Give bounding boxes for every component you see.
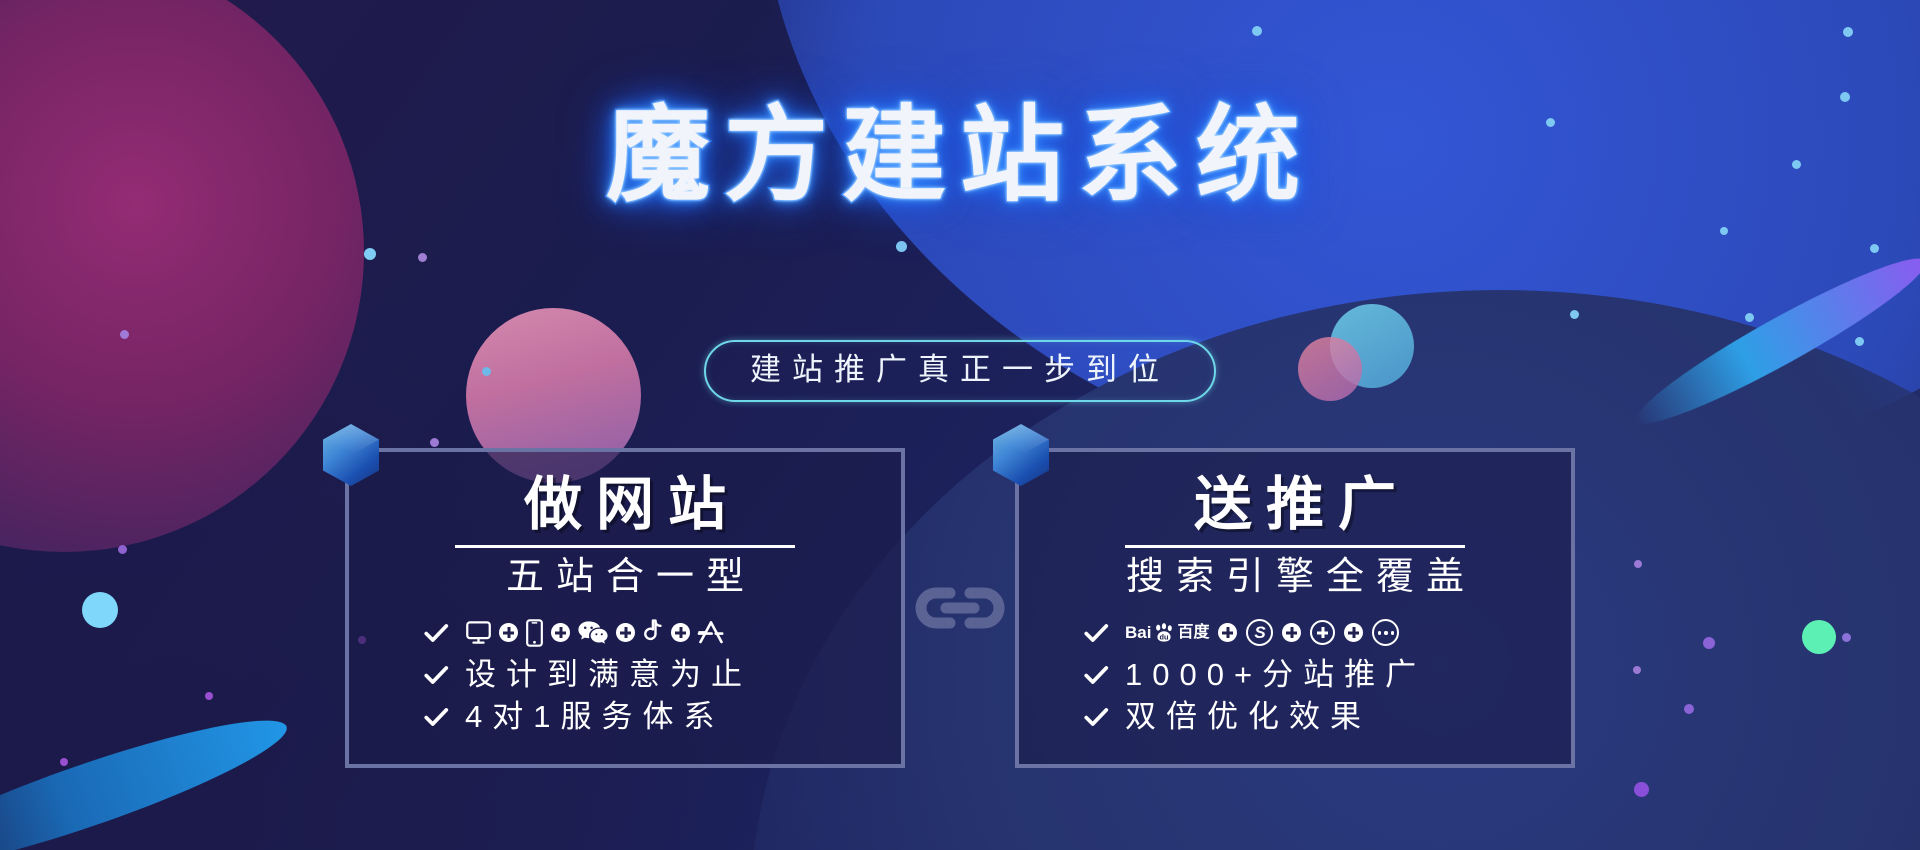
app-store-icon <box>697 620 725 646</box>
plus-icon <box>671 623 690 642</box>
list-item <box>423 612 901 654</box>
list-item-label: 1000+分站推广 <box>1125 659 1426 690</box>
star-dot <box>120 330 129 339</box>
star-dot <box>364 248 376 260</box>
panel-make-website[interactable]: 做网站 五站合一型 <box>345 448 905 768</box>
check-icon <box>423 620 449 646</box>
list-item: 1000+分站推广 <box>1083 654 1571 696</box>
check-icon <box>423 662 449 688</box>
list-item-label: 双倍优化效果 <box>1125 701 1371 732</box>
plus-icon <box>551 623 570 642</box>
panel-subtitle: 搜索引擎全覆盖 <box>1114 554 1476 602</box>
channel-icon-group <box>465 619 725 647</box>
page-title: 魔方建站系统 <box>0 104 1920 208</box>
list-item: 双倍优化效果 <box>1083 696 1571 738</box>
panel-rows: 设计到满意为止 4对1服务体系 <box>349 612 901 738</box>
more-dots-icon <box>1372 619 1399 646</box>
wechat-icon <box>577 620 609 646</box>
check-icon <box>423 704 449 730</box>
search-engine-icon-group: Bai du 百度 S <box>1125 619 1399 646</box>
panel-title-underline <box>455 545 795 548</box>
panel-title: 做网站 <box>510 474 740 535</box>
baidu-badge: du <box>1160 632 1169 641</box>
star-dot <box>1720 227 1728 235</box>
baidu-paw-icon: du <box>1153 622 1175 644</box>
link-chain-icon <box>912 583 1008 633</box>
promo-banner: 魔方建站系统 建站推广真正一步到位 做网站 五站合一型 <box>0 0 1920 850</box>
check-icon <box>1083 620 1109 646</box>
panel-title: 送推广 <box>1180 474 1410 535</box>
panel-subtitle: 五站合一型 <box>494 554 756 602</box>
baidu-logo-icon: Bai du 百度 <box>1125 622 1209 644</box>
list-item: 4对1服务体系 <box>423 696 901 738</box>
music-note-icon <box>642 619 664 646</box>
baidu-cn: 百度 <box>1177 625 1209 641</box>
list-item-label: 设计到满意为止 <box>465 659 752 690</box>
check-icon <box>1083 662 1109 688</box>
feature-panels: 做网站 五站合一型 <box>0 448 1920 768</box>
qihoo-360-icon <box>1310 620 1335 645</box>
star-dot <box>418 253 427 262</box>
sogou-icon: S <box>1246 619 1273 646</box>
panel-free-promotion[interactable]: 送推广 搜索引擎全覆盖 Bai <box>1015 448 1575 768</box>
plus-icon <box>1344 623 1363 642</box>
monitor-icon <box>465 619 492 646</box>
star-dot <box>1840 92 1850 102</box>
star-dot <box>1745 313 1754 322</box>
baidu-latin: Bai <box>1125 624 1151 641</box>
plus-icon <box>616 623 635 642</box>
panel-title-underline <box>1125 545 1465 548</box>
star-dot <box>1570 310 1579 319</box>
star-dot <box>430 438 439 447</box>
subtitle-pill: 建站推广真正一步到位 <box>704 340 1216 402</box>
star-dot <box>1252 26 1262 36</box>
star-dot <box>1843 27 1853 37</box>
plus-icon <box>1218 623 1237 642</box>
check-icon <box>1083 704 1109 730</box>
star-dot <box>1634 782 1649 797</box>
list-item-label: 4对1服务体系 <box>465 701 724 732</box>
panel-connector <box>905 448 1015 768</box>
star-dot <box>896 241 907 252</box>
plus-icon <box>499 623 518 642</box>
mobile-phone-icon <box>525 619 544 647</box>
list-item: Bai du 百度 S <box>1083 612 1571 654</box>
panel-rows: Bai du 百度 S <box>1019 612 1571 738</box>
list-item: 设计到满意为止 <box>423 654 901 696</box>
plus-icon <box>1282 623 1301 642</box>
subtitle-wrapper: 建站推广真正一步到位 <box>0 340 1920 402</box>
star-dot <box>1870 244 1879 253</box>
